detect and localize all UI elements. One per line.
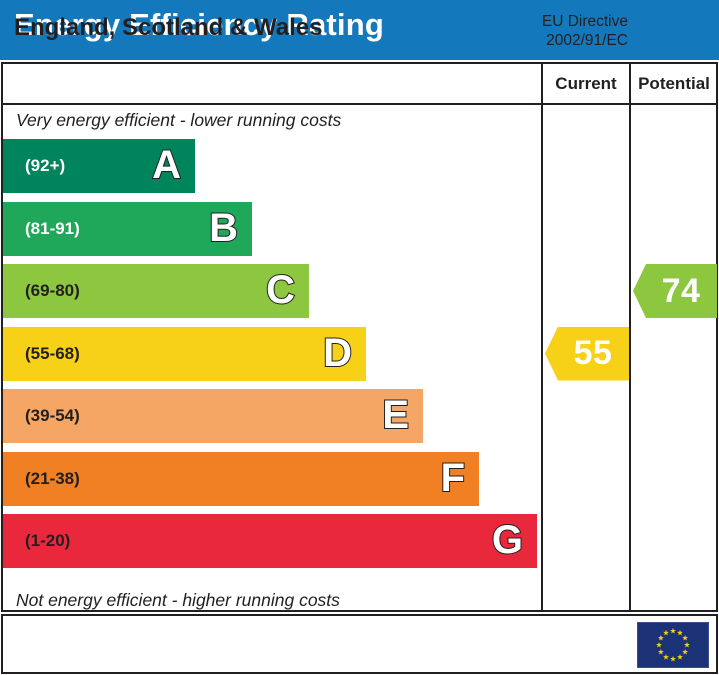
band-letter-c: C [266, 264, 295, 318]
band-range-b: (81-91) [25, 202, 80, 256]
footer-region-label: England, Scotland & Wales [14, 14, 322, 42]
band-bar-d: (55-68)D [3, 327, 366, 381]
column-divider-potential [629, 62, 631, 612]
band-bar-c: (69-80)C [3, 264, 309, 318]
band-range-d: (55-68) [25, 327, 80, 381]
band-bar-a: (92+)A [3, 139, 195, 193]
rating-arrow-potential: 74 [633, 264, 717, 318]
band-bar-f: (21-38)F [3, 452, 479, 506]
footer-directive-line1: EU Directive [516, 12, 628, 31]
band-range-e: (39-54) [25, 389, 80, 443]
eu-flag-icon [637, 622, 709, 668]
column-divider-current [541, 62, 543, 612]
caption-efficient: Very energy efficient - lower running co… [16, 110, 341, 131]
rating-value-current: 55 [562, 334, 613, 373]
eu-stars-icon [638, 623, 708, 667]
band-range-c: (69-80) [25, 264, 80, 318]
energy-efficiency-rating-chart: Energy Efficiency Rating Current Potenti… [0, 0, 719, 675]
band-range-g: (1-20) [25, 514, 70, 568]
band-range-a: (92+) [25, 139, 65, 193]
band-bar-e: (39-54)E [3, 389, 423, 443]
band-range-f: (21-38) [25, 452, 80, 506]
header-row-divider [1, 103, 718, 105]
footer-bar [1, 614, 718, 674]
column-header-potential: Potential [631, 70, 717, 98]
band-bar-g: (1-20)G [3, 514, 537, 568]
band-letter-b: B [209, 202, 238, 256]
band-letter-f: F [441, 452, 465, 506]
band-letter-a: A [152, 139, 181, 193]
footer-directive-line2: 2002/91/EC [516, 31, 628, 50]
rating-value-potential: 74 [650, 272, 701, 311]
footer-directive: EU Directive 2002/91/EC [516, 12, 628, 50]
band-bar-b: (81-91)B [3, 202, 252, 256]
column-header-current: Current [543, 70, 629, 98]
caption-inefficient: Not energy efficient - higher running co… [16, 590, 340, 611]
rating-arrow-current: 55 [545, 327, 629, 381]
band-letter-e: E [382, 389, 409, 443]
band-letter-g: G [492, 514, 523, 568]
band-letter-d: D [323, 327, 352, 381]
